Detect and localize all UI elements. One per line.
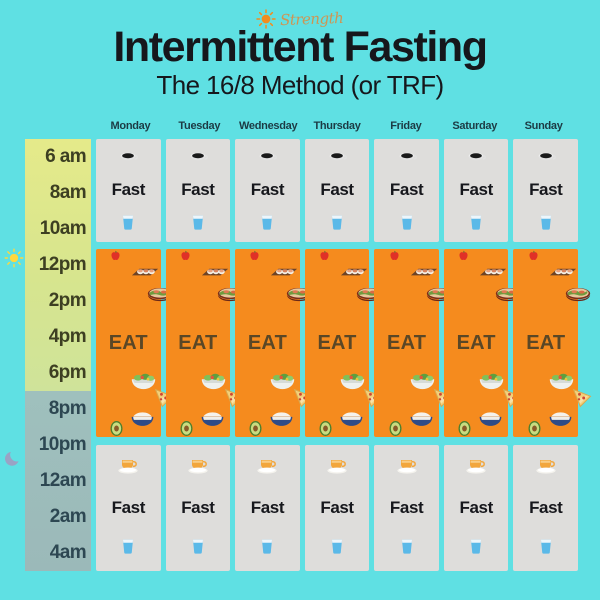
day-header-row: Monday Tuesday Wednesday Thursday Friday… — [96, 120, 578, 132]
eat-block[interactable]: EAT — [166, 249, 231, 437]
tea-cup-icon — [115, 455, 141, 481]
eat-label: EAT — [109, 332, 148, 355]
water-glass-icon — [465, 535, 487, 557]
fast-label: Fast — [181, 180, 214, 200]
fast-block-morning[interactable]: Fast — [513, 139, 578, 242]
coffee-cup-icon — [256, 146, 278, 168]
fast-block-night[interactable]: Fast — [444, 445, 509, 571]
coffee-cup-icon — [465, 146, 487, 168]
day-header-monday: Monday — [96, 120, 165, 132]
moon-icon — [4, 448, 24, 468]
avocado-icon — [457, 417, 472, 442]
eat-block[interactable]: EAT — [305, 249, 370, 437]
eat-label-row: EAT — [178, 319, 217, 367]
avocado-icon — [388, 417, 403, 442]
water-glass-icon — [187, 211, 209, 233]
pizza-slice-icon — [571, 387, 593, 414]
fast-block-morning[interactable]: Fast — [235, 139, 300, 242]
rice-bowl-icon — [339, 409, 364, 433]
time-label-2pm: 2pm — [25, 283, 91, 319]
eat-label: EAT — [317, 332, 356, 355]
apple-icon — [456, 249, 471, 269]
fast-label: Fast — [529, 180, 562, 200]
time-label-10am: 10am — [25, 211, 91, 247]
time-label-8pm: 8pm — [25, 391, 91, 427]
eat-label: EAT — [526, 332, 565, 355]
apple-icon — [178, 249, 193, 269]
apple-icon — [317, 249, 332, 269]
coffee-cup-icon — [187, 146, 209, 168]
fast-block-night[interactable]: Fast — [513, 445, 578, 571]
fast-block-night[interactable]: Fast — [305, 445, 370, 571]
water-glass-icon — [326, 535, 348, 557]
rice-bowl-icon — [548, 409, 573, 433]
avocado-icon — [109, 417, 124, 442]
fast-block-morning[interactable]: Fast — [305, 139, 370, 242]
day-column-tuesday[interactable]: Fast — [166, 139, 231, 571]
day-header-wednesday: Wednesday — [234, 120, 303, 132]
fast-block-morning[interactable]: Fast — [96, 139, 161, 242]
fast-label: Fast — [390, 498, 423, 518]
water-glass-icon — [256, 535, 278, 557]
eat-label: EAT — [178, 332, 217, 355]
water-glass-icon — [396, 211, 418, 233]
fast-label: Fast — [112, 180, 145, 200]
day-column-monday[interactable]: Fast — [96, 139, 161, 571]
water-glass-icon — [187, 535, 209, 557]
tea-cup-icon — [185, 455, 211, 481]
fast-label: Fast — [112, 498, 145, 518]
tea-cup-icon — [533, 455, 559, 481]
time-label-12am: 12am — [25, 463, 91, 499]
time-label-10pm: 10pm — [25, 427, 91, 463]
sushi-icon — [200, 263, 230, 287]
eat-block[interactable]: EAT — [513, 249, 578, 437]
fast-label: Fast — [251, 498, 284, 518]
apple-icon — [526, 249, 541, 269]
eat-label-row: EAT — [526, 319, 565, 367]
day-column-wednesday[interactable]: Fast — [235, 139, 300, 571]
day-column-saturday[interactable]: Fast — [444, 139, 509, 571]
water-glass-icon — [117, 535, 139, 557]
ramen-bowl-icon — [564, 285, 592, 309]
avocado-icon — [179, 417, 194, 442]
fast-block-morning[interactable]: Fast — [444, 139, 509, 242]
page-title: Intermittent Fasting — [0, 26, 600, 69]
page-subtitle: The 16/8 Method (or TRF) — [0, 72, 600, 98]
time-label-6am: 6 am — [25, 139, 91, 175]
tea-cup-icon — [254, 455, 280, 481]
water-glass-icon — [396, 535, 418, 557]
eat-block[interactable]: EAT — [444, 249, 509, 437]
eat-label: EAT — [457, 332, 496, 355]
day-header-thursday: Thursday — [303, 120, 372, 132]
fast-label: Fast — [529, 498, 562, 518]
tea-cup-icon — [463, 455, 489, 481]
eat-block[interactable]: EAT — [96, 249, 161, 437]
rice-bowl-icon — [269, 409, 294, 433]
tea-cup-icon — [324, 455, 350, 481]
day-column-sunday[interactable]: Fast — [513, 139, 578, 571]
rice-bowl-icon — [409, 409, 434, 433]
time-label-12pm: 12pm — [25, 247, 91, 283]
fast-label: Fast — [320, 180, 353, 200]
fast-label: Fast — [181, 498, 214, 518]
time-label-4pm: 4pm — [25, 319, 91, 355]
fast-block-night[interactable]: Fast — [235, 445, 300, 571]
day-header-saturday: Saturday — [440, 120, 509, 132]
sushi-icon — [130, 263, 160, 287]
water-glass-icon — [117, 211, 139, 233]
day-header-friday: Friday — [371, 120, 440, 132]
apple-icon — [387, 249, 402, 269]
day-header-sunday: Sunday — [509, 120, 578, 132]
rice-bowl-icon — [200, 409, 225, 433]
eat-label-row: EAT — [109, 319, 148, 367]
time-band-daytime: 6 am 8am 10am 12pm 2pm 4pm 6pm — [25, 139, 91, 391]
day-column-thursday[interactable]: Fast — [305, 139, 370, 571]
time-axis: 6 am 8am 10am 12pm 2pm 4pm 6pm 8pm 10pm … — [25, 139, 91, 571]
fast-label: Fast — [390, 180, 423, 200]
water-glass-icon — [535, 535, 557, 557]
coffee-cup-icon — [326, 146, 348, 168]
eat-label-row: EAT — [248, 319, 287, 367]
eat-label-row: EAT — [317, 319, 356, 367]
time-label-6pm: 6pm — [25, 355, 91, 391]
sushi-icon — [548, 263, 578, 287]
eat-label-row: EAT — [387, 319, 426, 367]
coffee-cup-icon — [117, 146, 139, 168]
fast-label: Fast — [460, 180, 493, 200]
eat-label: EAT — [248, 332, 287, 355]
eat-label: EAT — [387, 332, 426, 355]
eat-label-row: EAT — [457, 319, 496, 367]
tea-cup-icon — [394, 455, 420, 481]
water-glass-icon — [465, 211, 487, 233]
fast-block-night[interactable]: Fast — [374, 445, 439, 571]
day-column-friday[interactable]: Fast — [374, 139, 439, 571]
coffee-cup-icon — [396, 146, 418, 168]
water-glass-icon — [326, 211, 348, 233]
time-label-4am: 4am — [25, 535, 91, 571]
fast-label: Fast — [251, 180, 284, 200]
avocado-icon — [318, 417, 333, 442]
avocado-icon — [248, 417, 263, 442]
sushi-icon — [339, 263, 369, 287]
sushi-icon — [409, 263, 439, 287]
coffee-cup-icon — [535, 146, 557, 168]
fast-label: Fast — [320, 498, 353, 518]
fast-block-morning[interactable]: Fast — [166, 139, 231, 242]
fast-block-night[interactable]: Fast — [96, 445, 161, 571]
time-band-nighttime: 8pm 10pm 12am 2am 4am — [25, 391, 91, 571]
schedule-grid: Fast — [96, 139, 578, 571]
avocado-icon — [527, 417, 542, 442]
fast-block-night[interactable]: Fast — [166, 445, 231, 571]
time-label-8am: 8am — [25, 175, 91, 211]
fast-block-morning[interactable]: Fast — [374, 139, 439, 242]
water-glass-icon — [535, 211, 557, 233]
day-header-tuesday: Tuesday — [165, 120, 234, 132]
sushi-icon — [269, 263, 299, 287]
apple-icon — [247, 249, 262, 269]
eat-block[interactable]: EAT — [374, 249, 439, 437]
apple-icon — [108, 249, 123, 269]
rice-bowl-icon — [130, 409, 155, 433]
fast-label: Fast — [460, 498, 493, 518]
sushi-icon — [478, 263, 508, 287]
time-label-2am: 2am — [25, 499, 91, 535]
eat-block[interactable]: EAT — [235, 249, 300, 437]
sun-icon — [4, 248, 24, 268]
water-glass-icon — [256, 211, 278, 233]
rice-bowl-icon — [478, 409, 503, 433]
